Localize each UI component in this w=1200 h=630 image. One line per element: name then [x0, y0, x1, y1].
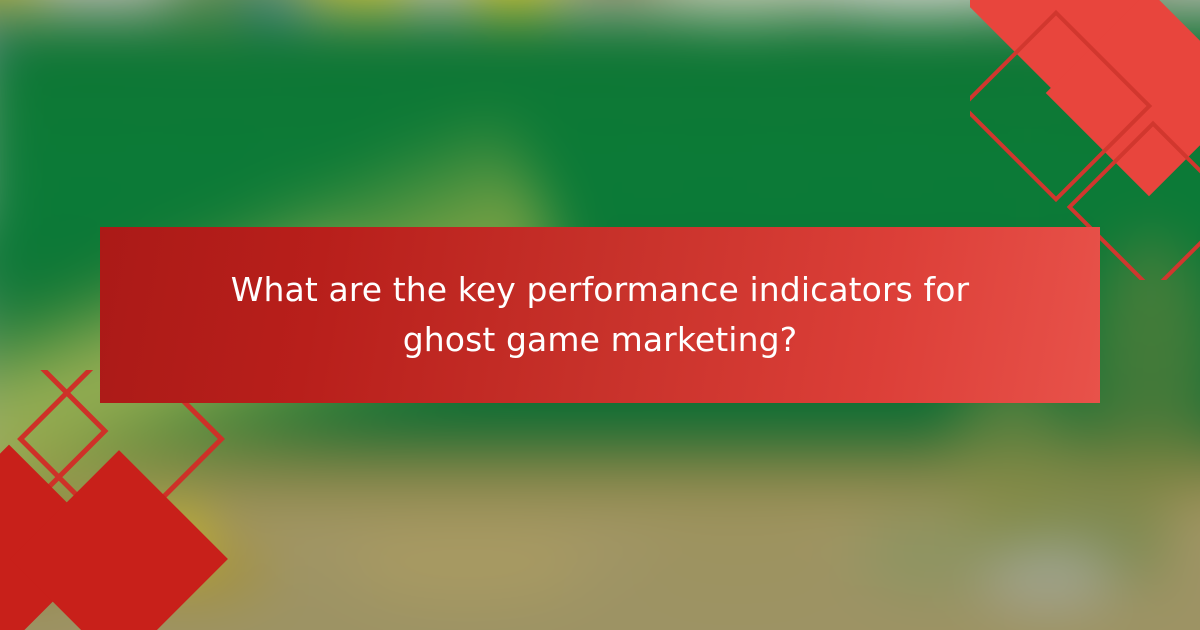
question-banner: What are the key performance indicators …: [100, 227, 1100, 403]
question-text: What are the key performance indicators …: [220, 265, 980, 365]
share-card: What are the key performance indicators …: [0, 0, 1200, 630]
background-blob-bottom: [632, 522, 844, 596]
background-left-pillar-lower: [0, 267, 6, 521]
background-blob-gray: [982, 543, 1120, 607]
background-blob-bottom: [144, 511, 208, 564]
background-blob-bottom: [346, 527, 590, 601]
